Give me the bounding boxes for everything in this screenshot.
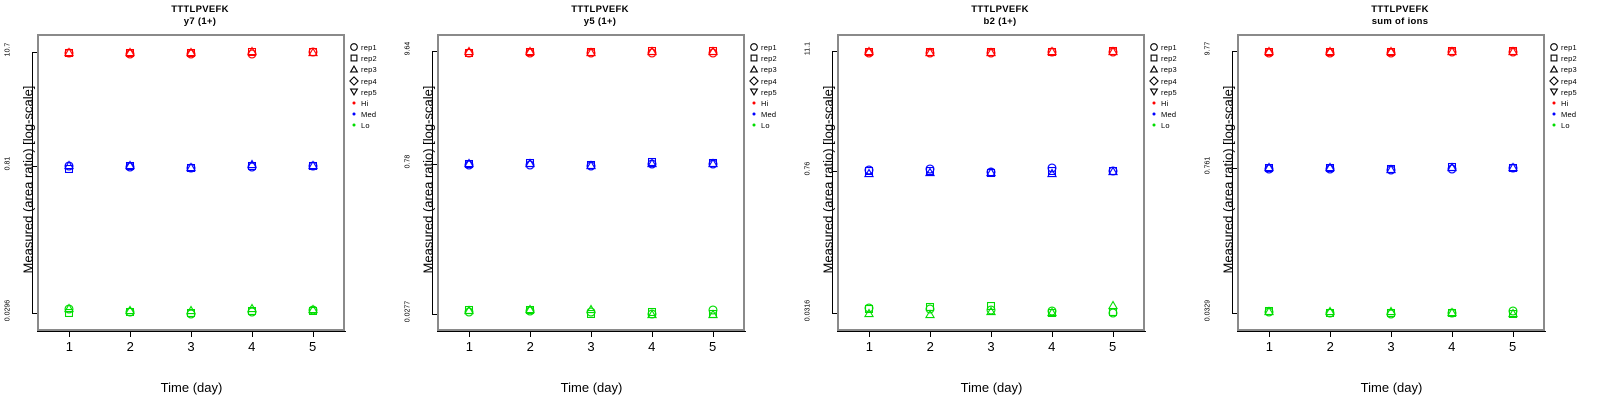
y-tick-label: 9.77 [1205, 27, 1212, 71]
legend-label: rep5 [761, 87, 777, 98]
y-axis-line [1232, 51, 1233, 313]
x-tick-mark [652, 331, 653, 337]
x-tick-label: 2 [118, 339, 142, 354]
legend-label: rep3 [1161, 64, 1177, 75]
panel-subtitle: b2 (1+) [800, 16, 1200, 28]
triangle-up-icon [748, 64, 761, 75]
x-tick-label: 4 [1440, 339, 1464, 354]
y-tick-label-wrap: 11.1 [786, 45, 830, 57]
legend-item: rep3 [748, 64, 777, 75]
legend-label: Hi [1161, 98, 1168, 109]
multi-panel-scatter-figure: TTTLPVEFKy7 (1+)Measured (area ratio) [l… [0, 0, 1600, 400]
legend-item: Hi [1548, 98, 1577, 109]
y-axis-line [32, 52, 33, 313]
legend-item: Med [748, 109, 777, 120]
legend-label: rep3 [1561, 64, 1577, 75]
x-tick-mark [1452, 331, 1453, 337]
legend-item: rep3 [1148, 64, 1177, 75]
legend-item: Lo [1548, 120, 1577, 131]
y-tick-label-wrap: 0.0329 [1186, 307, 1230, 319]
legend-item: Hi [1148, 98, 1177, 109]
x-axis-label: Time (day) [37, 380, 346, 395]
legend-label: rep4 [1161, 76, 1177, 87]
y-tick-mark [32, 313, 37, 314]
plot-area [37, 34, 345, 331]
dot-icon [1548, 109, 1561, 120]
x-tick-mark [469, 331, 470, 337]
x-axis-label: Time (day) [837, 380, 1146, 395]
legend-item: rep3 [1548, 64, 1577, 75]
y-tick-label-wrap: 0.81 [0, 160, 30, 172]
legend-item: rep1 [348, 42, 377, 53]
dot-icon [1548, 98, 1561, 109]
y-tick-mark [32, 166, 37, 167]
legend-item: rep1 [1548, 42, 1577, 53]
y-tick-label: 0.81 [5, 142, 12, 186]
legend-label: Lo [1561, 120, 1570, 131]
y-axis-line [832, 51, 833, 313]
panel-subtitle: y5 (1+) [400, 16, 800, 28]
legend-item: rep2 [1148, 53, 1177, 64]
triangle-down-icon [348, 87, 361, 98]
legend-item: rep4 [348, 76, 377, 87]
legend-label: Lo [361, 120, 370, 131]
square-icon [748, 53, 761, 64]
y-tick-mark [432, 51, 437, 52]
legend-item: Hi [348, 98, 377, 109]
diamond-icon [1548, 76, 1561, 87]
legend-item: Hi [748, 98, 777, 109]
x-tick-mark [530, 331, 531, 337]
panel-title: TTTLPVEFK [1200, 4, 1600, 16]
x-tick-mark [869, 331, 870, 337]
y-tick-label-wrap: 0.0296 [0, 307, 30, 319]
legend-item: Med [1148, 109, 1177, 120]
x-tick-label: 2 [918, 339, 942, 354]
panel-title: TTTLPVEFK [0, 4, 400, 16]
legend-item: Lo [348, 120, 377, 131]
triangle-down-icon [748, 87, 761, 98]
legend-label: rep5 [1561, 87, 1577, 98]
panel-title: TTTLPVEFK [800, 4, 1200, 16]
dot-icon [748, 109, 761, 120]
dot-icon [748, 98, 761, 109]
chart-panel: TTTLPVEFKb2 (1+)Measured (area ratio) [l… [800, 0, 1200, 400]
x-tick-mark [930, 331, 931, 337]
y-tick-label: 0.0329 [1205, 288, 1212, 332]
legend-label: rep2 [1161, 53, 1177, 64]
square-icon [348, 53, 361, 64]
legend: rep1rep2rep3rep4rep5HiMedLo [1548, 42, 1577, 132]
triangle-up-icon [348, 64, 361, 75]
triangle-up-icon [1148, 64, 1161, 75]
y-tick-mark [432, 314, 437, 315]
x-tick-mark [713, 331, 714, 337]
legend-item: rep5 [1148, 87, 1177, 98]
x-tick-mark [130, 331, 131, 337]
circle-icon [748, 42, 761, 53]
legend-label: rep3 [361, 64, 377, 75]
dot-icon [1148, 109, 1161, 120]
legend-label: Hi [761, 98, 768, 109]
x-tick-label: 3 [579, 339, 603, 354]
x-tick-label: 4 [640, 339, 664, 354]
legend-item: rep1 [748, 42, 777, 53]
circle-icon [348, 42, 361, 53]
y-tick-label-wrap: 0.761 [1186, 162, 1230, 174]
legend-label: rep1 [1161, 42, 1177, 53]
x-tick-label: 2 [518, 339, 542, 354]
dot-icon [748, 120, 761, 131]
square-icon [1548, 53, 1561, 64]
legend-label: rep2 [361, 53, 377, 64]
legend-item: Lo [1148, 120, 1177, 131]
y-tick-label-wrap: 0.0316 [786, 307, 830, 319]
x-tick-label: 4 [240, 339, 264, 354]
legend-item: Med [348, 109, 377, 120]
y-tick-label-wrap: 9.77 [1186, 45, 1230, 57]
legend-label: rep2 [761, 53, 777, 64]
legend-label: rep5 [1161, 87, 1177, 98]
legend-label: rep5 [361, 87, 377, 98]
y-axis-label: Measured (area ratio) [log-scale] [1221, 30, 1236, 330]
legend-item: rep2 [348, 53, 377, 64]
x-axis-label: Time (day) [437, 380, 746, 395]
legend: rep1rep2rep3rep4rep5HiMedLo [748, 42, 777, 132]
legend-item: rep4 [748, 76, 777, 87]
panel-title: TTTLPVEFK [400, 4, 800, 16]
legend-item: rep3 [348, 64, 377, 75]
legend-item: rep2 [748, 53, 777, 64]
x-tick-label: 3 [179, 339, 203, 354]
x-tick-label: 3 [1379, 339, 1403, 354]
x-tick-mark [1391, 331, 1392, 337]
y-tick-mark [832, 171, 837, 172]
legend-label: Lo [761, 120, 770, 131]
legend-item: rep1 [1148, 42, 1177, 53]
x-tick-mark [1052, 331, 1053, 337]
y-tick-label-wrap: 10.7 [0, 46, 30, 58]
y-tick-mark [1232, 313, 1237, 314]
legend-label: rep1 [1561, 42, 1577, 53]
y-tick-label: 0.0277 [405, 289, 412, 333]
chart-panel: TTTLPVEFKy7 (1+)Measured (area ratio) [l… [0, 0, 400, 400]
y-axis-line [432, 51, 433, 314]
legend-label: Hi [361, 98, 368, 109]
legend-label: rep3 [761, 64, 777, 75]
legend-label: rep4 [361, 76, 377, 87]
x-tick-label: 1 [857, 339, 881, 354]
x-tick-mark [1269, 331, 1270, 337]
circle-icon [1548, 42, 1561, 53]
legend-label: Med [1561, 109, 1576, 120]
legend-item: rep4 [1148, 76, 1177, 87]
triangle-down-icon [1548, 87, 1561, 98]
dot-icon [348, 120, 361, 131]
y-tick-mark [432, 164, 437, 165]
legend-item: Med [1548, 109, 1577, 120]
chart-panel: TTTLPVEFKsum of ionsMeasured (area ratio… [1200, 0, 1600, 400]
x-tick-label: 3 [979, 339, 1003, 354]
dot-icon [348, 109, 361, 120]
triangle-down-icon [1148, 87, 1161, 98]
y-tick-label: 0.0296 [5, 288, 12, 332]
y-axis-label: Measured (area ratio) [log-scale] [21, 30, 36, 330]
triangle-up-icon [1548, 64, 1561, 75]
diamond-icon [748, 76, 761, 87]
dot-icon [1148, 120, 1161, 131]
legend-label: Hi [1561, 98, 1568, 109]
y-tick-label-wrap: 9.64 [386, 45, 430, 57]
x-tick-mark [252, 331, 253, 337]
legend-item: rep2 [1548, 53, 1577, 64]
plot-area [837, 34, 1145, 331]
x-tick-label: 5 [701, 339, 725, 354]
y-tick-label-wrap: 0.0277 [386, 308, 430, 320]
legend-item: rep5 [748, 87, 777, 98]
legend-item: Lo [748, 120, 777, 131]
legend-label: Med [361, 109, 376, 120]
legend: rep1rep2rep3rep4rep5HiMedLo [348, 42, 377, 132]
diamond-icon [348, 76, 361, 87]
y-tick-label: 9.64 [405, 27, 412, 71]
y-tick-mark [832, 313, 837, 314]
legend: rep1rep2rep3rep4rep5HiMedLo [1148, 42, 1177, 132]
legend-item: rep5 [348, 87, 377, 98]
x-tick-label: 1 [1257, 339, 1281, 354]
x-axis-label: Time (day) [1237, 380, 1546, 395]
circle-icon [1148, 42, 1161, 53]
legend-item: rep4 [1548, 76, 1577, 87]
square-icon [1148, 53, 1161, 64]
legend-item: rep5 [1548, 87, 1577, 98]
x-tick-label: 4 [1040, 339, 1064, 354]
x-tick-mark [313, 331, 314, 337]
x-tick-mark [991, 331, 992, 337]
y-tick-mark [1232, 51, 1237, 52]
y-axis-label: Measured (area ratio) [log-scale] [821, 30, 836, 330]
plot-area [437, 34, 745, 331]
y-tick-label: 0.761 [1205, 144, 1212, 188]
legend-label: rep2 [1561, 53, 1577, 64]
x-tick-label: 5 [1501, 339, 1525, 354]
x-tick-label: 5 [301, 339, 325, 354]
y-tick-label: 0.0316 [805, 289, 812, 333]
x-tick-label: 2 [1318, 339, 1342, 354]
x-tick-mark [1513, 331, 1514, 337]
y-tick-label: 0.76 [805, 147, 812, 191]
dot-icon [1548, 120, 1561, 131]
y-tick-mark [32, 52, 37, 53]
x-tick-mark [1330, 331, 1331, 337]
panel-subtitle: sum of ions [1200, 16, 1600, 28]
legend-label: rep4 [761, 76, 777, 87]
y-tick-label-wrap: 0.76 [786, 165, 830, 177]
x-tick-mark [69, 331, 70, 337]
y-tick-label-wrap: 0.78 [386, 158, 430, 170]
legend-label: rep1 [361, 42, 377, 53]
legend-label: Med [1161, 109, 1176, 120]
legend-label: Lo [1161, 120, 1170, 131]
y-tick-mark [832, 51, 837, 52]
diamond-icon [1148, 76, 1161, 87]
chart-panel: TTTLPVEFKy5 (1+)Measured (area ratio) [l… [400, 0, 800, 400]
y-axis-label: Measured (area ratio) [log-scale] [421, 30, 436, 330]
panel-subtitle: y7 (1+) [0, 16, 400, 28]
plot-area [1237, 34, 1545, 331]
x-tick-mark [191, 331, 192, 337]
x-tick-mark [1113, 331, 1114, 337]
y-tick-label: 11.1 [805, 27, 812, 71]
legend-label: Med [761, 109, 776, 120]
legend-label: rep1 [761, 42, 777, 53]
y-tick-mark [1232, 168, 1237, 169]
legend-label: rep4 [1561, 76, 1577, 87]
x-tick-mark [591, 331, 592, 337]
x-tick-label: 1 [57, 339, 81, 354]
dot-icon [348, 98, 361, 109]
y-tick-label: 10.7 [5, 27, 12, 71]
x-tick-label: 1 [457, 339, 481, 354]
y-tick-label: 0.78 [405, 139, 412, 183]
dot-icon [1148, 98, 1161, 109]
x-tick-label: 5 [1101, 339, 1125, 354]
